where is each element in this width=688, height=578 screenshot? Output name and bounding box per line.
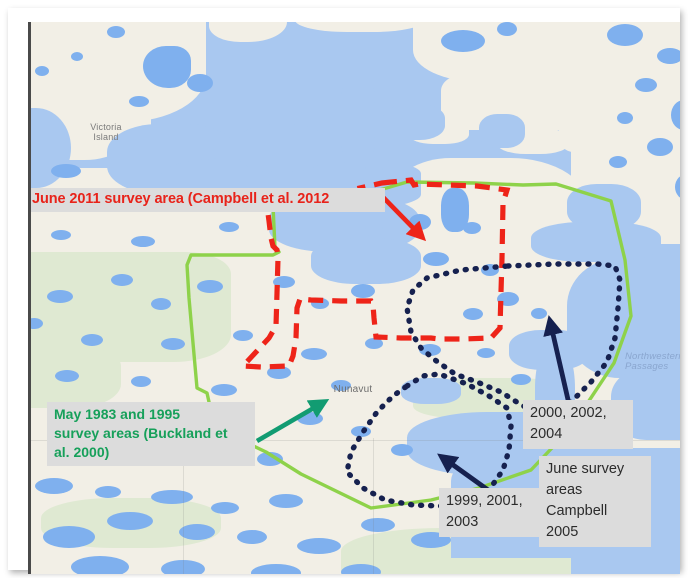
figure-matte: Victoria Island Nunavut Northwestern Pas… <box>8 8 680 570</box>
figure-frame: Victoria Island Nunavut Northwestern Pas… <box>0 0 688 578</box>
may-1983-1995-survey-callout: May 1983 and 1995 survey areas (Buckland… <box>47 402 255 466</box>
june-survey-areas-campbell-callout: June survey areas Campbell 2005 <box>539 456 651 547</box>
map-canvas[interactable]: Victoria Island Nunavut Northwestern Pas… <box>28 22 680 574</box>
navy-arrow-upper <box>550 321 569 404</box>
map-viewport[interactable]: Victoria Island Nunavut Northwestern Pas… <box>28 22 680 574</box>
navy-dotted-boundary-north <box>407 264 620 414</box>
years-2000-2002-2004-callout: 2000, 2002, 2004 <box>523 400 633 449</box>
red-arrow <box>380 194 422 237</box>
years-1999-2001-2003-callout: 1999, 2001, 2003 <box>439 488 545 537</box>
teal-arrow <box>257 402 324 441</box>
navy-arrow-lower <box>442 457 488 490</box>
june-2011-survey-callout: June 2011 survey area (Campbell et al. 2… <box>28 188 385 212</box>
